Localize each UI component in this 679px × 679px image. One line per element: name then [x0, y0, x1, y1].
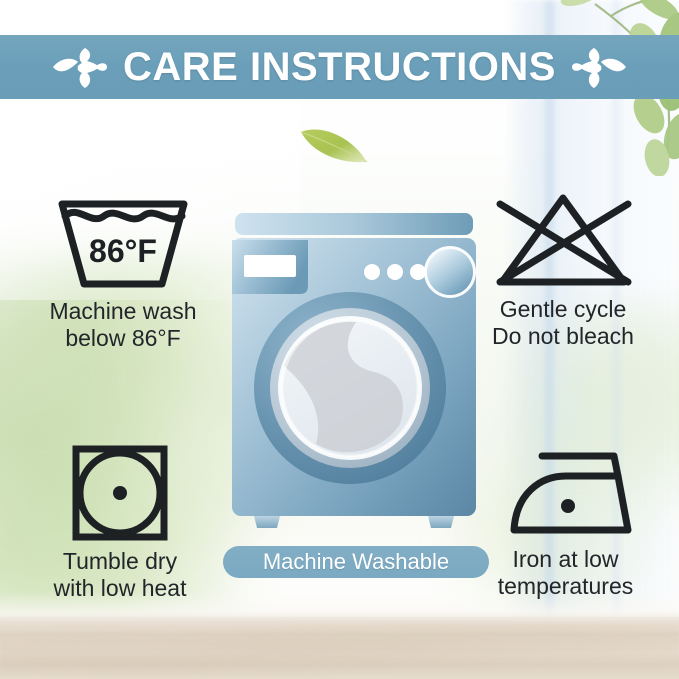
- care-item-machine-wash: 86°F Machine wash below 86°F: [8, 196, 238, 352]
- header-banner: CARE INSTRUCTIONS: [0, 35, 679, 99]
- care-item-iron: Iron at low temperatures: [452, 448, 679, 600]
- washing-machine-illustration: [232, 210, 476, 530]
- crossed-triangle-icon: [488, 190, 638, 290]
- page-title: CARE INSTRUCTIONS: [123, 47, 556, 87]
- tumble-dry-low-icon: [71, 444, 169, 542]
- iron-low-icon: [496, 448, 636, 540]
- machine-washable-badge: Machine Washable: [223, 546, 489, 578]
- fleur-de-lis-icon: [51, 46, 109, 88]
- care-instructions-graphic: CARE INSTRUCTIONS: [0, 0, 679, 679]
- wood-grain: [0, 617, 679, 679]
- wood-table-edge: [0, 613, 679, 623]
- care-item-caption: Machine wash below 86°F: [49, 298, 196, 352]
- fleur-de-lis-icon: [570, 46, 628, 88]
- care-item-tumble-dry: Tumble dry with low heat: [10, 444, 230, 602]
- wash-temperature-value: 86°F: [89, 233, 157, 269]
- wash-tub-icon: 86°F: [56, 196, 190, 292]
- status-badge: Machine Washable: [263, 551, 449, 573]
- care-item-caption: Gentle cycle Do not bleach: [492, 296, 634, 350]
- floating-leaf-icon: [297, 118, 371, 170]
- care-item-caption: Iron at low temperatures: [498, 546, 634, 600]
- care-item-do-not-bleach: Gentle cycle Do not bleach: [447, 190, 679, 350]
- care-item-caption: Tumble dry with low heat: [54, 548, 187, 602]
